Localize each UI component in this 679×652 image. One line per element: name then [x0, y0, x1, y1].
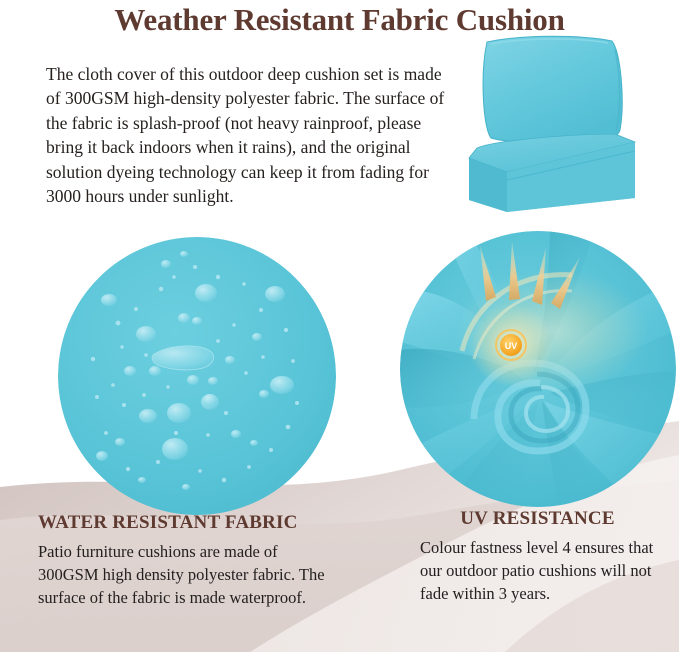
uv-badge-label: UV — [505, 341, 518, 351]
water-resistant-image — [58, 237, 336, 515]
feature-water-resistant: WATER RESISTANT FABRIC Patio furniture c… — [38, 512, 338, 609]
feature-uv-resistance: UV RESISTANCE Colour fastness level 4 en… — [420, 508, 655, 605]
intro-paragraph: The cloth cover of this outdoor deep cus… — [46, 62, 446, 210]
feature-body-water: Patio furniture cushions are made of 300… — [38, 540, 338, 609]
feature-title-water: WATER RESISTANT FABRIC — [38, 512, 338, 534]
product-seat-cushion — [469, 134, 635, 212]
uv-badge: UV — [469, 303, 553, 387]
weather-resistant-fabric-infographic: Weather Resistant Fabric Cushion The clo… — [0, 0, 679, 652]
feature-title-uv: UV RESISTANCE — [420, 508, 655, 530]
feature-body-uv: Colour fastness level 4 ensures that our… — [420, 536, 655, 605]
product-back-pillow — [483, 36, 622, 143]
uv-resistance-image: UV — [400, 231, 676, 507]
product-cushion-image — [455, 30, 665, 225]
